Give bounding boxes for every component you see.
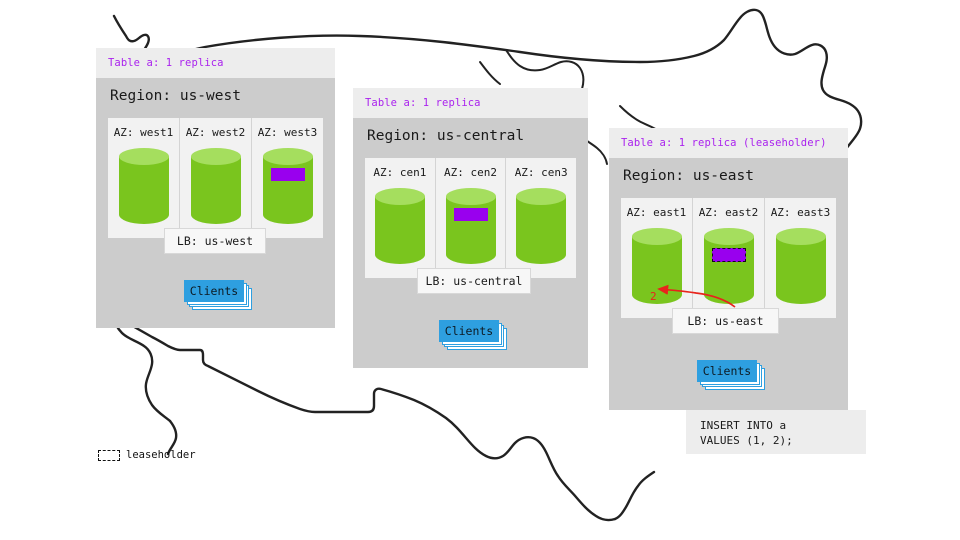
legend-label: leaseholder (126, 449, 196, 461)
az-label: AZ: cen2 (436, 166, 506, 179)
cylinder-top (446, 188, 496, 205)
cylinder-top (516, 188, 566, 205)
db-node-cylinder[interactable] (776, 228, 826, 304)
load-balancer-us-west[interactable]: LB: us-west (164, 228, 266, 254)
cylinder-top (632, 228, 682, 245)
db-node-cylinder[interactable] (704, 228, 754, 304)
lb-label: LB: us-west (177, 234, 253, 248)
az-container-us-west: AZ: west1 AZ: west2 AZ: west3 (108, 118, 323, 238)
region-title: Region: us-central (367, 128, 524, 144)
clients-button-us-east[interactable]: Clients (697, 360, 761, 386)
cylinder-top (375, 188, 425, 205)
az-label: AZ: east3 (765, 206, 836, 219)
region-title: Region: us-east (623, 168, 754, 184)
cylinder-top (263, 148, 313, 165)
az-cell-cen3[interactable]: AZ: cen3 (506, 158, 576, 278)
az-label: AZ: west2 (180, 126, 251, 139)
replica-band (271, 168, 305, 181)
cylinder-top (704, 228, 754, 245)
region-panel-us-west[interactable]: Table a: 1 replica Region: us-west AZ: w… (96, 48, 335, 328)
region-title: Region: us-west (110, 88, 241, 104)
cylinder-body (446, 196, 496, 264)
clients-button-us-west[interactable]: Clients (184, 280, 248, 306)
load-balancer-us-central[interactable]: LB: us-central (417, 268, 531, 294)
panel-header-us-west: Table a: 1 replica (96, 48, 335, 78)
replica-label: Table a: 1 replica (365, 97, 481, 109)
az-label: AZ: cen1 (365, 166, 435, 179)
az-label: AZ: west1 (108, 126, 179, 139)
load-balancer-us-east[interactable]: LB: us-east (672, 308, 779, 334)
clients-label[interactable]: Clients (697, 360, 757, 382)
legend: leaseholder (98, 449, 196, 461)
az-label: AZ: west3 (252, 126, 323, 139)
panel-header-us-east: Table a: 1 replica (leaseholder) (609, 128, 848, 158)
cylinder-body (704, 236, 754, 304)
leaseholder-swatch-icon (98, 450, 120, 461)
region-panel-us-east[interactable]: Table a: 1 replica (leaseholder) Region:… (609, 128, 848, 410)
cylinder-body (516, 196, 566, 264)
diagram-canvas: Table a: 1 replica Region: us-west AZ: w… (0, 0, 960, 540)
lb-label: LB: us-central (426, 274, 523, 288)
az-cell-cen1[interactable]: AZ: cen1 (365, 158, 436, 278)
cylinder-body (263, 156, 313, 224)
cylinder-body (119, 156, 169, 224)
cylinder-top (119, 148, 169, 165)
az-container-us-central: AZ: cen1 AZ: cen2 AZ: cen3 (365, 158, 576, 278)
leaseholder-band (712, 248, 746, 262)
az-cell-cen2[interactable]: AZ: cen2 (436, 158, 507, 278)
sql-statement-box: INSERT INTO a VALUES (1, 2); (686, 410, 866, 454)
db-node-cylinder[interactable] (191, 148, 241, 224)
az-cell-west2[interactable]: AZ: west2 (180, 118, 252, 238)
az-cell-east1[interactable]: AZ: east1 (621, 198, 693, 318)
cylinder-body (776, 236, 826, 304)
db-node-cylinder[interactable] (119, 148, 169, 224)
db-node-cylinder[interactable] (516, 188, 566, 264)
arrow-step-number: 2 (650, 290, 657, 303)
cylinder-top (776, 228, 826, 245)
db-node-cylinder[interactable] (263, 148, 313, 224)
cylinder-top (191, 148, 241, 165)
replica-label: Table a: 1 replica (leaseholder) (621, 137, 827, 149)
az-cell-west1[interactable]: AZ: west1 (108, 118, 180, 238)
region-panel-us-central[interactable]: Table a: 1 replica Region: us-central AZ… (353, 88, 588, 368)
az-cell-east3[interactable]: AZ: east3 (765, 198, 836, 318)
cylinder-body (191, 156, 241, 224)
az-label: AZ: east1 (621, 206, 692, 219)
replica-band (454, 208, 488, 221)
sql-statement-text: INSERT INTO a VALUES (1, 2); (700, 419, 793, 447)
clients-label[interactable]: Clients (439, 320, 499, 342)
clients-button-us-central[interactable]: Clients (439, 320, 503, 346)
az-label: AZ: cen3 (506, 166, 576, 179)
panel-header-us-central: Table a: 1 replica (353, 88, 588, 118)
db-node-cylinder[interactable] (375, 188, 425, 264)
clients-label[interactable]: Clients (184, 280, 244, 302)
db-node-cylinder[interactable] (446, 188, 496, 264)
az-cell-east2[interactable]: AZ: east2 (693, 198, 765, 318)
cylinder-body (375, 196, 425, 264)
az-cell-west3[interactable]: AZ: west3 (252, 118, 323, 238)
az-label: AZ: east2 (693, 206, 764, 219)
replica-label: Table a: 1 replica (108, 57, 224, 69)
lb-label: LB: us-east (687, 314, 763, 328)
